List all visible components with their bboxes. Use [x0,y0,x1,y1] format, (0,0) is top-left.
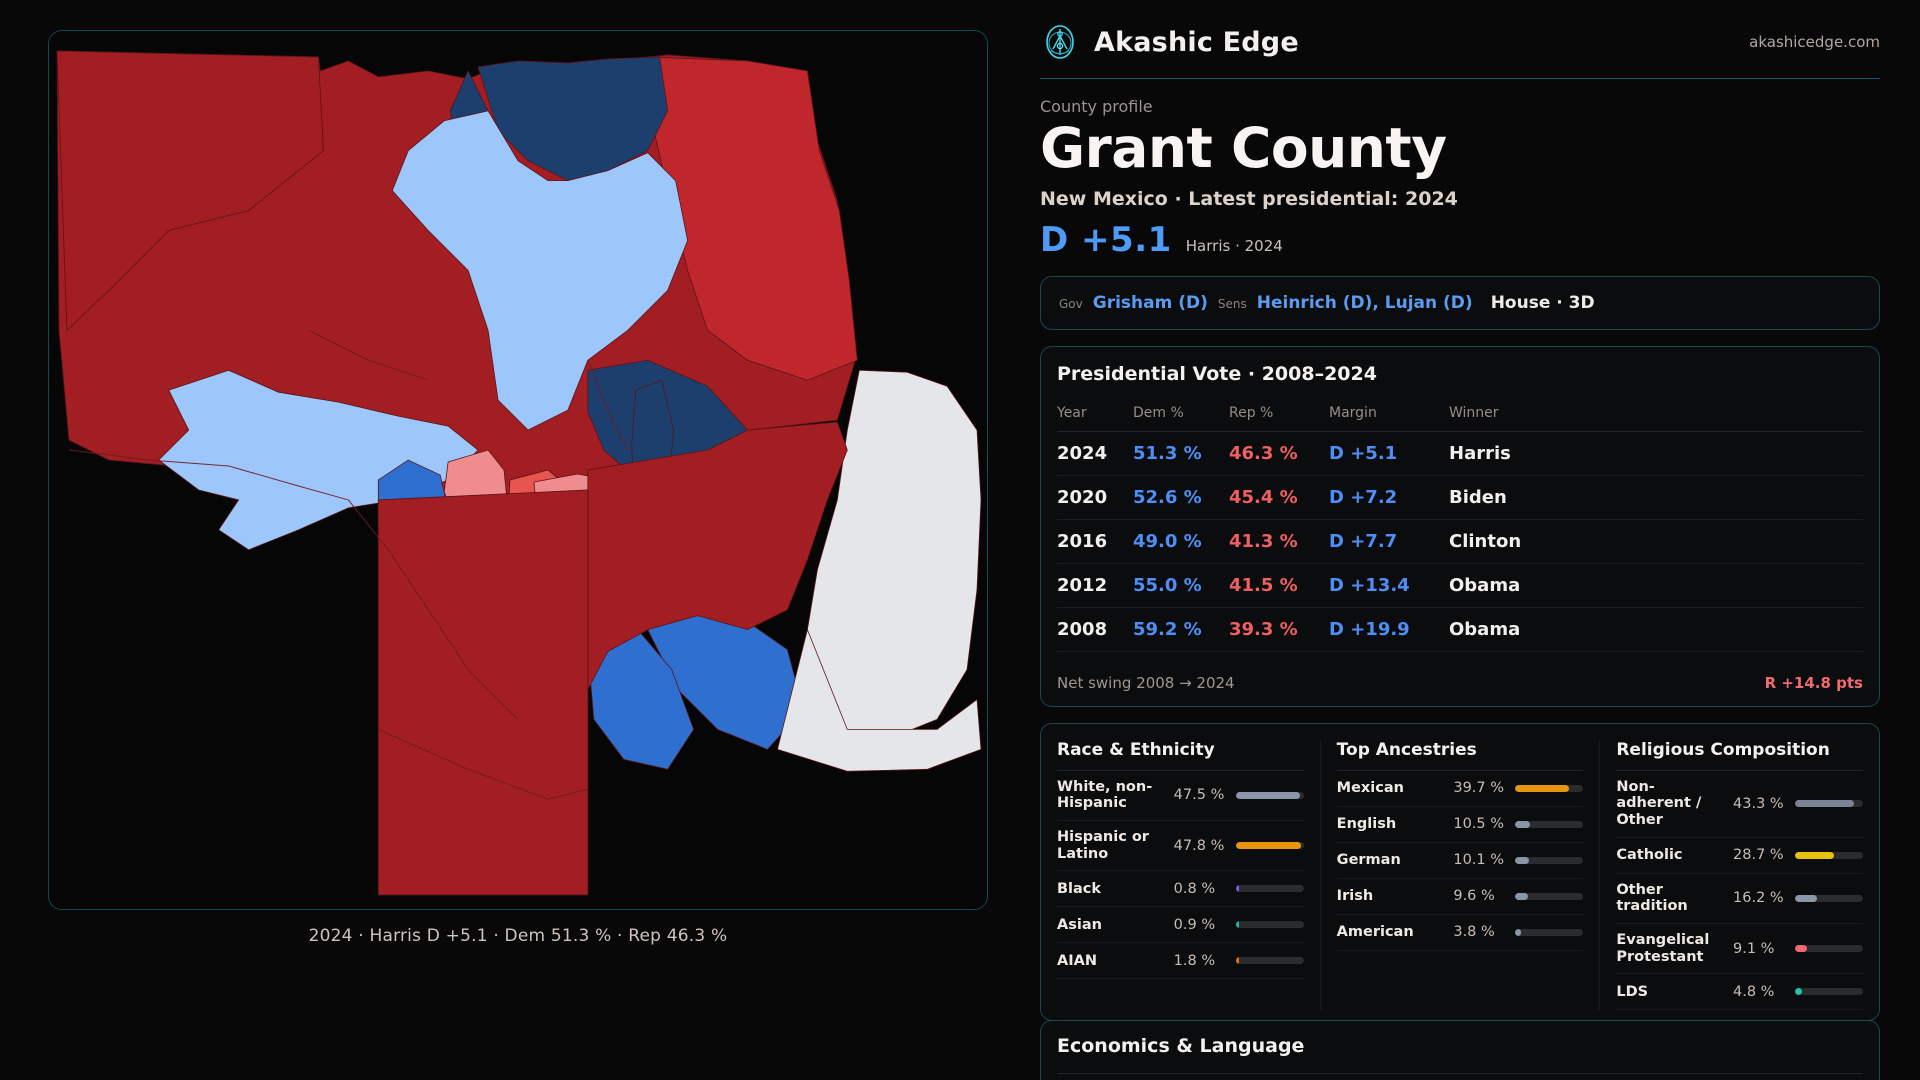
demo-title-race: Race & Ethnicity [1057,740,1304,771]
demo-row: Non-adherent / Other 43.3 % [1616,771,1863,838]
demo-bar-fill [1515,821,1529,828]
demo-bar [1515,929,1583,936]
demo-bar [1236,957,1304,964]
demo-value: 16.2 % [1733,890,1787,906]
demo-value: 9.6 % [1453,888,1507,904]
cell-rep: 45.4 % [1229,475,1329,519]
col-year: Year [1057,399,1133,432]
demo-bar-fill [1795,852,1834,859]
map-column: 2024 · Harris D +5.1 · Dem 51.3 % · Rep … [0,0,1020,1080]
net-swing-row: Net swing 2008 → 2024 R +14.8 pts [1041,662,1879,706]
table-row[interactable]: 2020 52.6 % 45.4 % D +7.2 Biden [1057,475,1863,519]
demo-label: German [1337,852,1446,869]
table-row[interactable]: 2016 49.0 % 41.3 % D +7.7 Clinton [1057,519,1863,563]
demo-label: LDS [1616,984,1725,1001]
cell-margin: D +19.9 [1329,607,1449,651]
demo-row: Black 0.8 % [1057,871,1304,907]
demo-bar [1795,945,1863,952]
demographics-grid: Race & Ethnicity White, non-Hispanic 47.… [1041,724,1879,1021]
county-choropleth-map[interactable] [48,30,988,910]
presidential-vote-title: Presidential Vote · 2008–2024 [1057,363,1863,385]
cell-year: 2020 [1057,475,1133,519]
demo-label: Catholic [1616,847,1725,864]
brand-bar: Akashic Edge akashicedge.com [1040,22,1880,79]
headline-margin-value: D +5.1 [1040,220,1172,260]
cell-dem: 59.2 % [1133,607,1229,651]
demo-bar [1515,821,1583,828]
cell-year: 2012 [1057,563,1133,607]
sens-value[interactable]: Heinrich (D), Lujan (D) [1257,293,1473,313]
presidential-vote-body: Presidential Vote · 2008–2024 Year Dem %… [1041,347,1879,662]
demo-bar-fill [1515,857,1529,864]
demo-bar-fill [1236,885,1239,892]
table-row[interactable]: 2024 51.3 % 46.3 % D +5.1 Harris [1057,431,1863,475]
demo-label: AIAN [1057,953,1166,970]
col-winner: Winner [1449,399,1863,432]
map-caption: 2024 · Harris D +5.1 · Dem 51.3 % · Rep … [48,926,988,946]
demo-bar-fill [1795,800,1854,807]
demo-label: Asian [1057,917,1166,934]
demo-column-race: Race & Ethnicity White, non-Hispanic 47.… [1041,740,1320,1011]
officials-card: Gov Grisham (D) Sens Heinrich (D), Lujan… [1040,276,1880,330]
demo-value: 1.8 % [1174,953,1228,969]
table-header-row: Year Dem % Rep % Margin Winner [1057,399,1863,432]
demo-row: Evangelical Protestant 9.1 % [1616,924,1863,974]
col-dem: Dem % [1133,399,1229,432]
economics-grid: Median HH income Poverty rate English at… [1057,1073,1863,1080]
demo-bar [1236,792,1304,799]
demo-value: 10.5 % [1453,816,1507,832]
eyebrow-label: County profile [1040,97,1880,116]
demo-value: 28.7 % [1733,847,1787,863]
demo-title-religion: Religious Composition [1616,740,1863,771]
table-row[interactable]: 2008 59.2 % 39.3 % D +19.9 Obama [1057,607,1863,651]
demo-value: 0.8 % [1174,881,1228,897]
demo-label: Irish [1337,888,1446,905]
demo-bar [1236,921,1304,928]
demo-bar-fill [1515,929,1520,936]
col-margin: Margin [1329,399,1449,432]
economics-card: Economics & Language Median HH income Po… [1040,1020,1880,1080]
presidential-vote-card: Presidential Vote · 2008–2024 Year Dem %… [1040,346,1880,707]
headline-margin: D +5.1 Harris · 2024 [1040,220,1880,260]
demo-bar [1795,988,1863,995]
demo-label: Mexican [1337,780,1446,797]
cell-margin: D +5.1 [1329,431,1449,475]
demo-value: 0.9 % [1174,917,1228,933]
demographics-card: Race & Ethnicity White, non-Hispanic 47.… [1040,723,1880,1022]
demo-bar-fill [1515,893,1528,900]
demo-row: Other tradition 16.2 % [1616,874,1863,924]
demo-label: Hispanic or Latino [1057,829,1166,862]
demo-row: White, non-Hispanic 47.5 % [1057,771,1304,821]
presidential-vote-table: Year Dem % Rep % Margin Winner 2024 51.3… [1057,399,1863,652]
officials-row: Gov Grisham (D) Sens Heinrich (D), Lujan… [1041,277,1879,329]
cell-margin: D +13.4 [1329,563,1449,607]
demo-bar-fill [1236,792,1301,799]
cell-winner: Harris [1449,431,1863,475]
demo-label: White, non-Hispanic [1057,779,1166,812]
cell-winner: Obama [1449,563,1863,607]
demo-row: American 3.8 % [1337,915,1584,951]
akashic-emblem-icon [1040,22,1080,62]
demo-bar-fill [1795,945,1807,952]
demo-label: American [1337,924,1446,941]
demo-bar [1236,885,1304,892]
headline-margin-note: Harris · 2024 [1186,237,1283,255]
demo-bar [1236,842,1304,849]
demo-label: English [1337,816,1446,833]
net-swing-label: Net swing 2008 → 2024 [1057,674,1235,692]
demo-label: Evangelical Protestant [1616,932,1725,965]
sens-label: Sens [1218,297,1247,311]
demo-bar-fill [1795,895,1817,902]
demo-bar [1515,893,1583,900]
cell-rep: 39.3 % [1229,607,1329,651]
map-svg [49,31,987,909]
cell-year: 2016 [1057,519,1133,563]
demo-bar [1795,895,1863,902]
house-value: House · 3D [1491,293,1595,313]
brand-url: akashicedge.com [1749,33,1880,51]
demo-row: English 10.5 % [1337,807,1584,843]
demo-bar [1795,800,1863,807]
gov-value[interactable]: Grisham (D) [1093,293,1208,313]
county-profile-page: 2024 · Harris D +5.1 · Dem 51.3 % · Rep … [0,0,1920,1080]
economics-title: Economics & Language [1057,1035,1863,1057]
net-swing-value: R +14.8 pts [1765,674,1863,692]
demo-label: Other tradition [1616,882,1725,915]
demo-title-ancestries: Top Ancestries [1337,740,1584,771]
cell-dem: 51.3 % [1133,431,1229,475]
demo-value: 47.5 % [1174,787,1228,803]
table-row[interactable]: 2012 55.0 % 41.5 % D +13.4 Obama [1057,563,1863,607]
cell-margin: D +7.2 [1329,475,1449,519]
cell-dem: 52.6 % [1133,475,1229,519]
demo-bar-fill [1795,988,1802,995]
cell-winner: Clinton [1449,519,1863,563]
demo-label: Black [1057,881,1166,898]
demo-value: 47.8 % [1174,838,1228,854]
col-rep: Rep % [1229,399,1329,432]
demo-value: 10.1 % [1453,852,1507,868]
cell-year: 2024 [1057,431,1133,475]
gov-label: Gov [1059,297,1083,311]
cell-rep: 41.5 % [1229,563,1329,607]
cell-winner: Obama [1449,607,1863,651]
demo-row: AIAN 1.8 % [1057,943,1304,979]
demo-value: 43.3 % [1733,796,1787,812]
demo-row: Mexican 39.7 % [1337,771,1584,807]
demo-label: Non-adherent / Other [1616,779,1725,829]
demo-value: 4.8 % [1733,984,1787,1000]
demo-column-religion: Religious Composition Non-adherent / Oth… [1599,740,1879,1011]
demo-bar-fill [1236,921,1239,928]
demo-bar-fill [1515,785,1569,792]
presidential-vote-rows: 2024 51.3 % 46.3 % D +5.1 Harris 2020 52… [1057,431,1863,651]
brand-name: Akashic Edge [1094,27,1299,58]
demo-value: 3.8 % [1453,924,1507,940]
cell-rep: 46.3 % [1229,431,1329,475]
cell-dem: 49.0 % [1133,519,1229,563]
demo-row: German 10.1 % [1337,843,1584,879]
cell-margin: D +7.7 [1329,519,1449,563]
demo-row: Catholic 28.7 % [1616,838,1863,874]
cell-dem: 55.0 % [1133,563,1229,607]
demo-bar-fill [1236,957,1239,964]
demo-value: 9.1 % [1733,941,1787,957]
profile-panel: Akashic Edge akashicedge.com County prof… [1020,0,1920,1080]
demo-bar [1515,857,1583,864]
demo-value: 39.7 % [1453,780,1507,796]
cell-year: 2008 [1057,607,1133,651]
cell-winner: Biden [1449,475,1863,519]
demo-row: Asian 0.9 % [1057,907,1304,943]
demo-bar [1515,785,1583,792]
demo-row: Hispanic or Latino 47.8 % [1057,821,1304,871]
demo-bar [1795,852,1863,859]
cell-rep: 41.3 % [1229,519,1329,563]
demo-column-ancestries: Top Ancestries Mexican 39.7 % English 10… [1320,740,1600,1011]
demo-row: Irish 9.6 % [1337,879,1584,915]
page-title: Grant County [1040,120,1880,178]
page-subtitle: New Mexico · Latest presidential: 2024 [1040,188,1880,210]
demo-row: LDS 4.8 % [1616,974,1863,1010]
demo-bar-fill [1236,842,1301,849]
brand-left: Akashic Edge [1040,22,1299,62]
